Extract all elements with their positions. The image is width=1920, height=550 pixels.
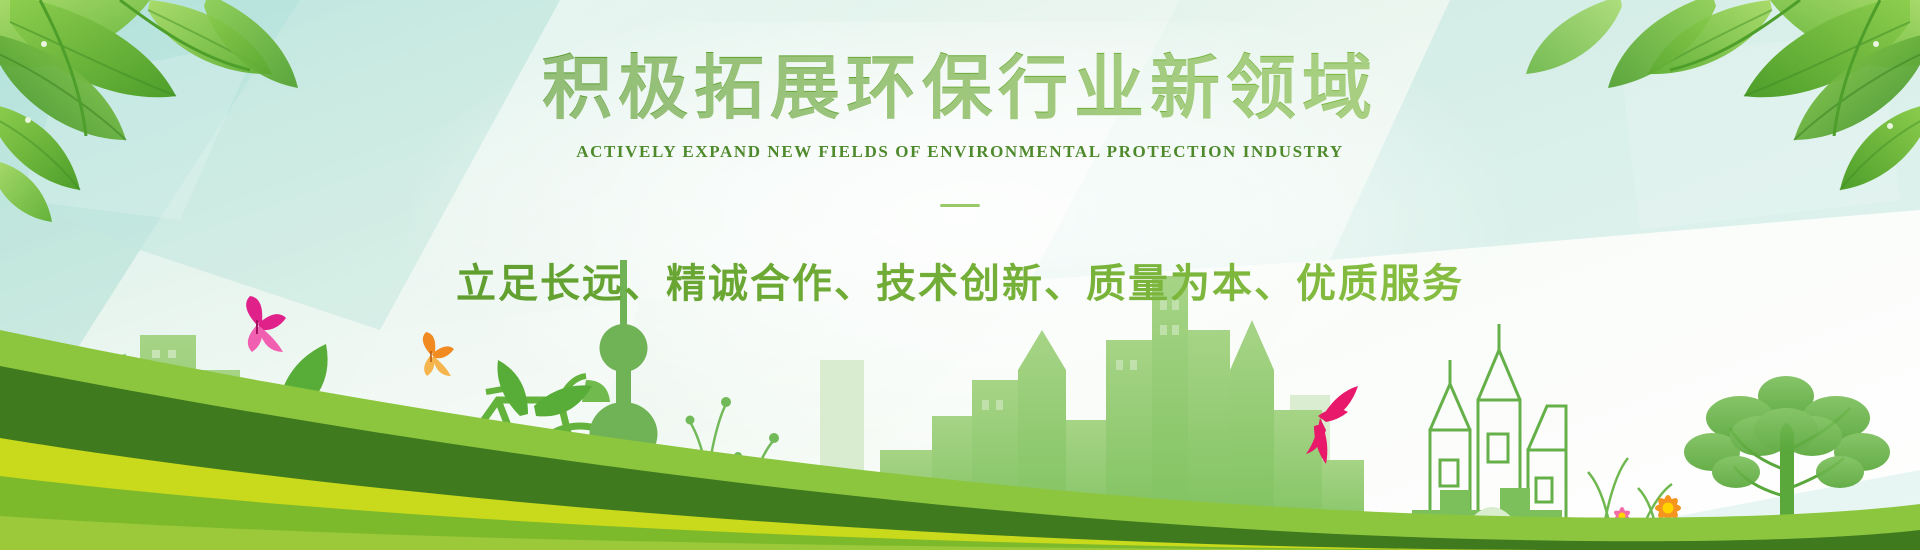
eco-banner: 积极拓展环保行业新领域 ACTIVELY EXPAND NEW FIELDS O… xyxy=(0,0,1920,550)
leaf-decorations xyxy=(0,0,1920,230)
wave-bands xyxy=(0,290,1920,550)
leaves-top-right xyxy=(1526,0,1920,190)
leaves-top-left xyxy=(0,0,298,222)
page-slogan: 立足长远、精诚合作、技术创新、质量为本、优质服务 xyxy=(0,251,1920,309)
